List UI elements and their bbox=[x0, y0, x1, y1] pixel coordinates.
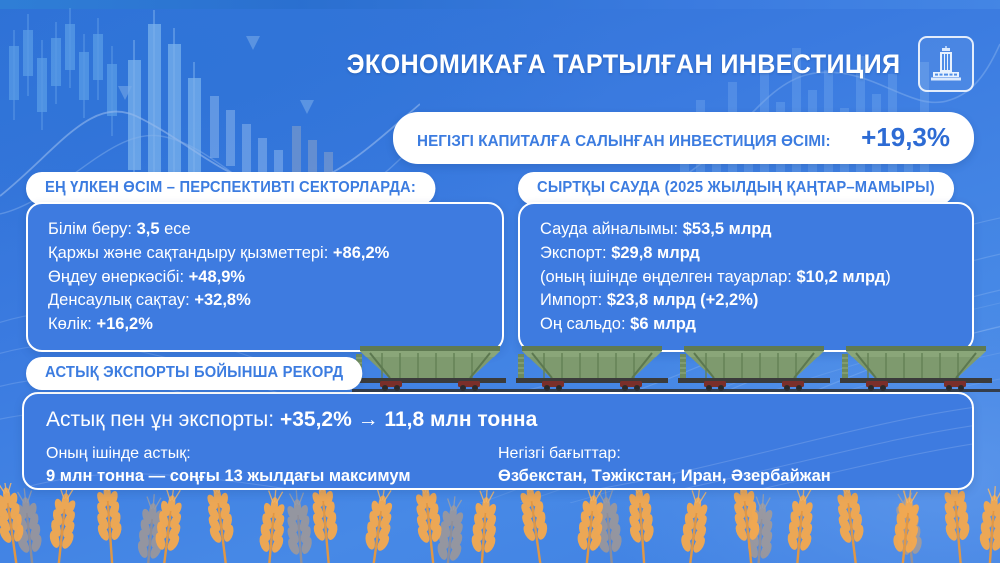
grain-column-value: Өзбекстан, Тәжікстан, Иран, Әзербайжан bbox=[498, 465, 950, 487]
grain-column-title: Негізгі бағыттар: bbox=[498, 443, 950, 465]
sector-label: Көлік: bbox=[48, 315, 92, 333]
trade-row: Импорт: $23,8 млрд (+2,2%) bbox=[540, 289, 952, 313]
sector-value: 3,5 bbox=[137, 220, 160, 238]
grain-train-illustration bbox=[352, 344, 1000, 392]
sector-value: +86,2% bbox=[333, 244, 389, 262]
trade-heading-text: СЫРТҚЫ САУДА (2025 ЖЫЛДЫҢ ҚАҢТАР–МАМЫРЫ) bbox=[537, 179, 935, 197]
trade-value: $6 млрд bbox=[630, 315, 696, 333]
sector-suffix: есе bbox=[160, 220, 191, 238]
sector-row: Көлік: +16,2% bbox=[48, 313, 482, 337]
sector-label: Қаржы және сақтандыру қызметтері: bbox=[48, 244, 328, 262]
trade-value: $23,8 млрд (+2,2%) bbox=[607, 291, 759, 309]
trade-suffix: ) bbox=[885, 268, 891, 286]
trade-panel: Сауда айналымы: $53,5 млрд Экспорт: $29,… bbox=[518, 202, 974, 352]
trade-row: Сауда айналымы: $53,5 млрд bbox=[540, 218, 952, 242]
sector-value: +16,2% bbox=[96, 315, 152, 333]
grain-column-title: Оның ішінде астық: bbox=[46, 443, 498, 465]
grain-panel: Астық пен ұн экспорты: +35,2% → 11,8 млн… bbox=[22, 392, 974, 490]
capital-investment-label: НЕГІЗГІ КАПИТАЛҒА САЛЫНҒАН ИНВЕСТИЦИЯ ӨС… bbox=[417, 133, 831, 151]
sector-value: +32,8% bbox=[194, 291, 250, 309]
trade-value: $29,8 млрд bbox=[611, 244, 700, 262]
grain-headline-label: Астық пен ұн экспорты: bbox=[46, 408, 274, 431]
sector-row: Денсаулық сақтау: +32,8% bbox=[48, 289, 482, 313]
capital-investment-value: +19,3% bbox=[861, 122, 950, 153]
header: ЭКОНОМИКАҒА ТАРТЫЛҒАН ИНВЕСТИЦИЯ bbox=[0, 36, 1000, 92]
grain-hopper-railcars bbox=[352, 344, 1000, 392]
sector-row: Білім беру: 3,5 есе bbox=[48, 218, 482, 242]
trade-label: Импорт: bbox=[540, 291, 602, 309]
grain-headline-value: +35,2% → 11,8 млн тонна bbox=[280, 408, 537, 431]
sectors-heading-pill: ЕҢ ҮЛКЕН ӨСІМ – ПЕРСПЕКТИВТІ СЕКТОРЛАРДА… bbox=[26, 172, 435, 205]
sectors-heading-text: ЕҢ ҮЛКЕН ӨСІМ – ПЕРСПЕКТИВТІ СЕКТОРЛАРДА… bbox=[45, 179, 416, 197]
trade-value: $53,5 млрд bbox=[683, 220, 772, 238]
grain-heading-text: АСТЫҚ ЭКСПОРТЫ БОЙЫНША РЕКОРД bbox=[45, 364, 343, 382]
grain-heading-pill: АСТЫҚ ЭКСПОРТЫ БОЙЫНША РЕКОРД bbox=[26, 357, 362, 390]
sector-row: Өңдеу өнеркәсібі: +48,9% bbox=[48, 266, 482, 290]
trade-label: Экспорт: bbox=[540, 244, 607, 262]
grain-columns: Оның ішінде астық: 9 млн тонна — соңғы 1… bbox=[46, 443, 950, 487]
building-glyph bbox=[929, 46, 963, 82]
government-building-icon bbox=[918, 36, 974, 92]
grain-column: Негізгі бағыттар: Өзбекстан, Тәжікстан, … bbox=[498, 443, 950, 487]
grain-column-value: 9 млн тонна — соңғы 13 жылдағы максимум bbox=[46, 465, 498, 487]
trade-row: Экспорт: $29,8 млрд bbox=[540, 242, 952, 266]
trade-row: Оң сальдо: $6 млрд bbox=[540, 313, 952, 337]
sector-row: Қаржы және сақтандыру қызметтері: +86,2% bbox=[48, 242, 482, 266]
page-title: ЭКОНОМИКАҒА ТАРТЫЛҒАН ИНВЕСТИЦИЯ bbox=[346, 49, 900, 80]
grain-column: Оның ішінде астық: 9 млн тонна — соңғы 1… bbox=[46, 443, 498, 487]
sector-value: +48,9% bbox=[189, 268, 245, 286]
wheat-decoration bbox=[0, 483, 1000, 563]
trade-value: $10,2 млрд bbox=[797, 268, 886, 286]
sectors-panel: Білім беру: 3,5 есе Қаржы және сақтандыр… bbox=[26, 202, 504, 352]
grain-headline: Астық пен ұн экспорты: +35,2% → 11,8 млн… bbox=[46, 408, 950, 432]
trade-row: (оның ішінде өңделген тауарлар: $10,2 мл… bbox=[540, 266, 952, 290]
trade-heading-pill: СЫРТҚЫ САУДА (2025 ЖЫЛДЫҢ ҚАҢТАР–МАМЫРЫ) bbox=[518, 172, 954, 205]
trade-label: Сауда айналымы: bbox=[540, 220, 678, 238]
trade-label: Оң сальдо: bbox=[540, 315, 626, 333]
sector-label: Өңдеу өнеркәсібі: bbox=[48, 268, 184, 286]
sector-label: Білім беру: bbox=[48, 220, 132, 238]
capital-investment-banner: НЕГІЗГІ КАПИТАЛҒА САЛЫНҒАН ИНВЕСТИЦИЯ ӨС… bbox=[393, 112, 974, 164]
trade-label: (оның ішінде өңделген тауарлар: bbox=[540, 268, 792, 286]
sector-label: Денсаулық сақтау: bbox=[48, 291, 190, 309]
infographic-canvas: ЭКОНОМИКАҒА ТАРТЫЛҒАН ИНВЕСТИЦИЯ bbox=[0, 0, 1000, 563]
